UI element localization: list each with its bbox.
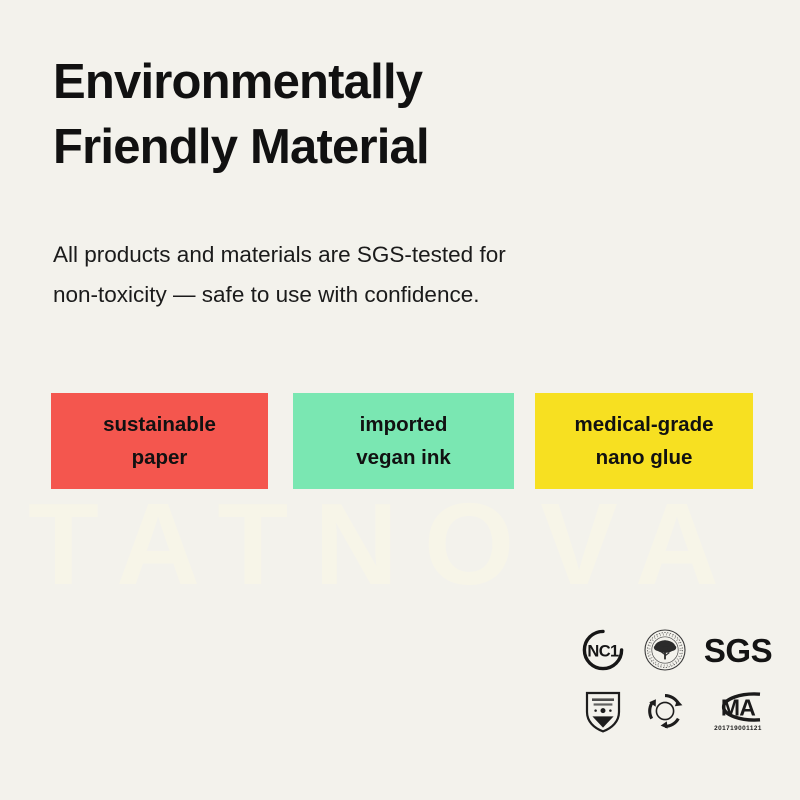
sgs-icon: SGS bbox=[696, 620, 780, 680]
chip-imported-vegan-ink: imported vegan ink bbox=[293, 393, 514, 489]
chip-sustainable-paper: sustainable paper bbox=[51, 393, 268, 489]
cma-label: MA bbox=[721, 694, 755, 720]
brand-watermark: TATNOVA bbox=[28, 486, 788, 602]
poster-canvas: TATNOVA Environmentally Friendly Materia… bbox=[0, 0, 800, 800]
page-description: All products and materials are SGS-teste… bbox=[53, 235, 653, 315]
shield-icon bbox=[572, 680, 634, 742]
page-description-line-1: All products and materials are SGS-teste… bbox=[53, 235, 653, 275]
chip-medical-grade-nano-glue-line-1: medical-grade bbox=[575, 408, 714, 441]
sgs-label: SGS bbox=[704, 634, 772, 667]
page-title: Environmentally Friendly Material bbox=[53, 50, 693, 179]
chip-medical-grade-nano-glue-line-2: nano glue bbox=[596, 441, 693, 474]
page-description-line-2: non-toxicity — safe to use with confiden… bbox=[53, 275, 653, 315]
chip-sustainable-paper-line-2: paper bbox=[132, 441, 188, 474]
page-title-line-2: Friendly Material bbox=[53, 115, 693, 180]
cma-icon: MA 201719001121 bbox=[696, 680, 780, 742]
cma-certificate-number: 201719001121 bbox=[714, 725, 762, 732]
material-chip-row: sustainable paper imported vegan ink med… bbox=[51, 393, 753, 489]
page-title-line-1: Environmentally bbox=[53, 50, 693, 115]
chip-medical-grade-nano-glue: medical-grade nano glue bbox=[535, 393, 753, 489]
nc1-icon: NC1 bbox=[572, 620, 634, 680]
chip-imported-vegan-ink-line-2: vegan ink bbox=[356, 441, 451, 474]
svg-text:NC1: NC1 bbox=[587, 643, 619, 661]
recycle-icon bbox=[634, 680, 696, 742]
tree-seal-icon bbox=[634, 620, 696, 680]
chip-sustainable-paper-line-1: sustainable bbox=[103, 408, 216, 441]
certification-badge-group: NC1 SGS bbox=[572, 620, 780, 742]
chip-imported-vegan-ink-line-1: imported bbox=[360, 408, 448, 441]
